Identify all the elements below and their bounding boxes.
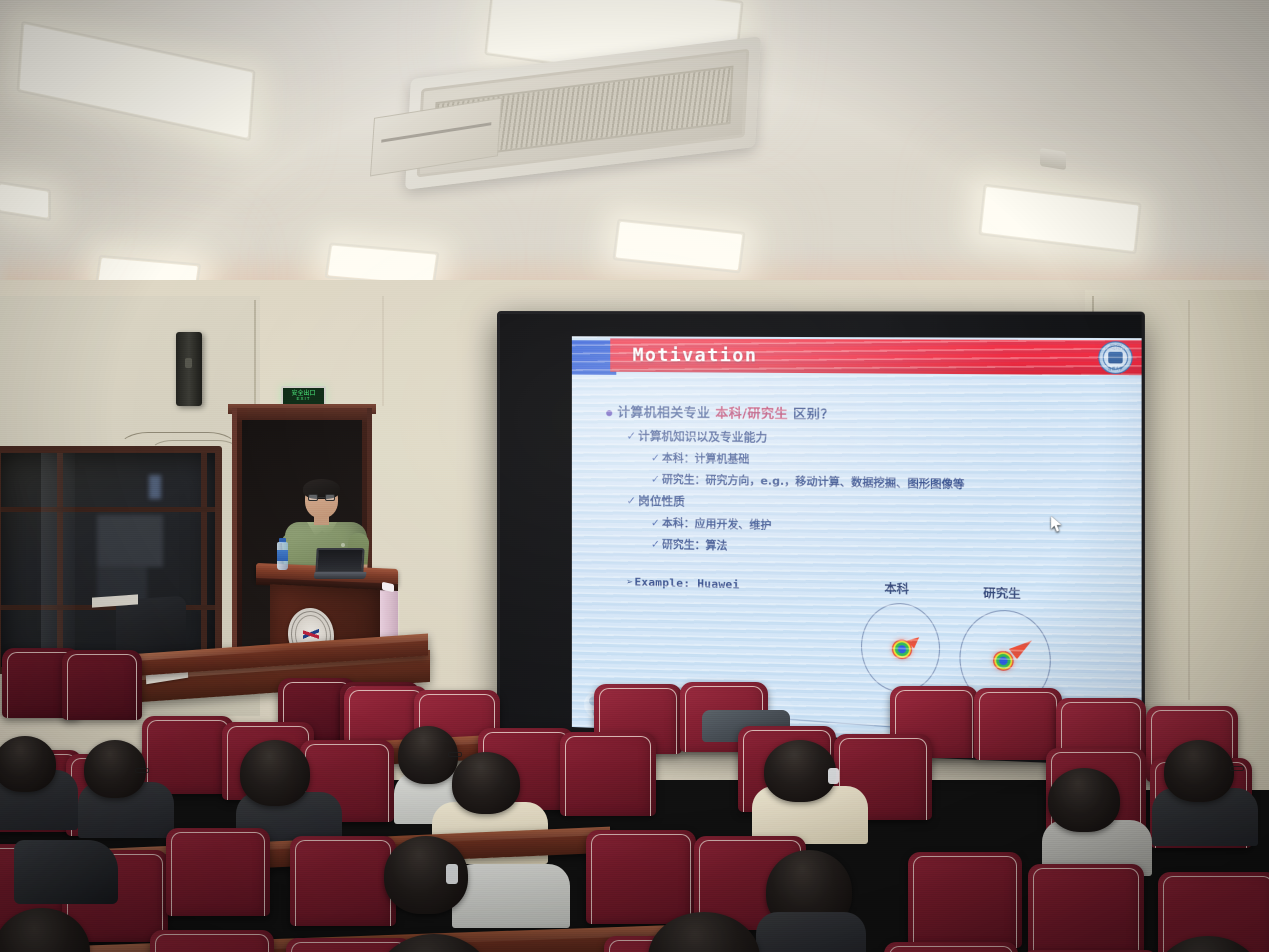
- cabinet-item: [149, 475, 161, 499]
- diagram-label-right: 研究生: [983, 584, 1021, 602]
- exit-sign-face: 安全出口 EXIT: [283, 388, 324, 404]
- wall-speaker: [176, 332, 202, 406]
- slide-main-question: 计算机相关专业 本科/研究生 区别？: [606, 401, 1124, 426]
- water-bottle: [277, 538, 288, 570]
- cabinet-mullion: [201, 453, 207, 667]
- slide-bullet: ✓岗位性质: [626, 492, 1123, 518]
- mouse-pointer-icon: [1051, 516, 1063, 533]
- example-text: Example: Huawei: [634, 576, 739, 592]
- seat[interactable]: [290, 836, 396, 926]
- seat[interactable]: [560, 732, 656, 816]
- seat[interactable]: [1028, 864, 1144, 952]
- ceiling-light-panel: [0, 184, 48, 218]
- seat[interactable]: [150, 930, 274, 952]
- bullet-text: 本科：计算机基础: [662, 452, 749, 466]
- wall-seam: [382, 296, 384, 406]
- diagram-label-left: 本科: [884, 580, 909, 597]
- seal-top-text: JISHOU UNIVERSITY: [1099, 344, 1131, 350]
- audience-head: [1048, 768, 1120, 832]
- seat[interactable]: [62, 650, 142, 720]
- arrow-bullet-icon: ➢: [626, 575, 633, 588]
- cabinet-glass-reflection: [41, 453, 75, 667]
- seal-bottom-text: 吉首大学: [1099, 365, 1131, 370]
- seat[interactable]: [908, 852, 1022, 948]
- emergency-exit-sign: 安全出口 EXIT: [281, 386, 326, 406]
- check-icon: ✓: [626, 493, 636, 507]
- cabinet-shelf: [1, 507, 215, 512]
- slide-bullet: ✓研究生：研究方向，e.g.，移动计算、数据挖掘、图形图像等: [651, 471, 1124, 494]
- slide-bullet: ✓研究生：算法: [651, 536, 1124, 562]
- bullet-text: 计算机知识以及专业能力: [638, 429, 767, 445]
- jacket-on-seat: [14, 840, 118, 904]
- bullet-text: 本科：应用开发、维护: [662, 517, 771, 532]
- laptop-screen: [315, 548, 364, 573]
- cabinet-inner-glow: [97, 515, 163, 567]
- seat[interactable]: [166, 828, 270, 916]
- seat[interactable]: [884, 942, 1018, 952]
- slide-bullet: ✓本科：计算机基础: [651, 450, 1124, 472]
- audience-seating: [0, 640, 1269, 952]
- bullet-text: 研究生：算法: [662, 539, 727, 553]
- bullet-text: 研究生：研究方向，e.g.，移动计算、数据挖掘、图形图像等: [662, 474, 964, 491]
- seat[interactable]: [586, 830, 696, 924]
- university-seal-icon: JISHOU UNIVERSITY 吉首大学: [1098, 341, 1132, 374]
- check-icon: ✓: [651, 517, 660, 529]
- face-mask: [446, 864, 458, 884]
- audience-glasses: [448, 752, 462, 757]
- bottle-label: [277, 550, 288, 561]
- presenter-glasses: [308, 494, 335, 501]
- slide-bullet: ✓计算机知识以及专业能力: [626, 428, 1123, 451]
- lecture-hall-photo: 安全出口 EXIT Motivation: [0, 0, 1269, 952]
- audience-shoulders: [756, 912, 866, 952]
- check-icon: ✓: [651, 473, 660, 485]
- seat[interactable]: [974, 688, 1062, 760]
- slide-title: Motivation: [633, 345, 758, 367]
- presenter-shirt-logo: [341, 543, 345, 547]
- audience-head: [0, 736, 56, 792]
- audience-glasses: [1230, 766, 1244, 771]
- ceiling-light-panel: [328, 246, 436, 285]
- question-suffix: 区别？: [793, 406, 834, 422]
- exit-sign-label-en: EXIT: [296, 397, 310, 402]
- check-icon: ✓: [626, 429, 636, 443]
- desk-row: [128, 634, 428, 677]
- check-icon: ✓: [651, 538, 660, 550]
- laptop-keyboard-base: [313, 572, 366, 579]
- bullet-text: 岗位性质: [638, 494, 685, 509]
- audience-glasses: [135, 768, 149, 773]
- audience-head: [240, 740, 310, 806]
- question-prefix: 计算机相关专业: [617, 404, 710, 420]
- slide-header-red-band: Motivation: [610, 338, 1141, 375]
- face-mask: [828, 768, 839, 784]
- question-highlight: 本科/研究生: [715, 405, 788, 421]
- audience-head: [764, 740, 836, 802]
- audience-head: [452, 752, 520, 814]
- slide-header: Motivation JISHOU UNIVERSITY 吉首大学: [572, 336, 1142, 378]
- audience-shoulders: [452, 864, 570, 928]
- audience-head: [1164, 740, 1234, 802]
- bullet-dot-icon: [606, 410, 612, 416]
- presenter-laptop[interactable]: [314, 548, 366, 580]
- check-icon: ✓: [651, 452, 660, 464]
